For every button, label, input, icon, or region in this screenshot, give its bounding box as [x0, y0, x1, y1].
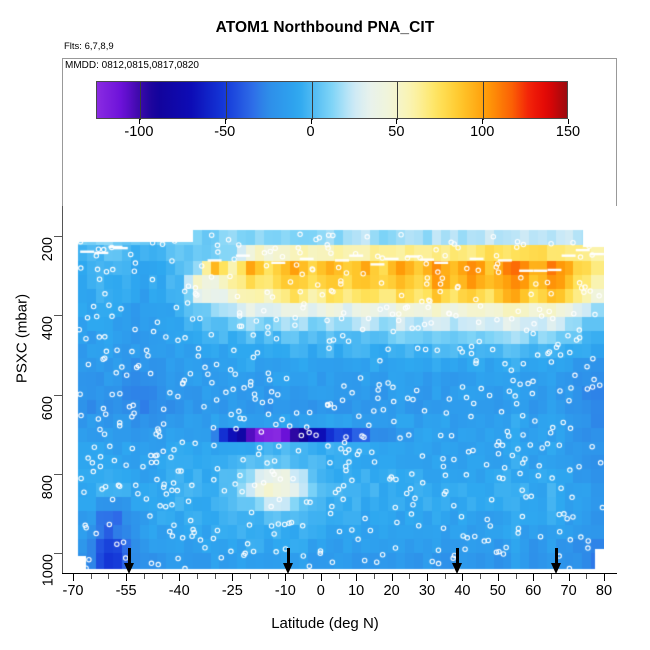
x-axis-tick-label: 70 — [561, 583, 577, 599]
x-axis-tick — [427, 574, 428, 581]
y-axis-tick-label-text: 600 — [40, 396, 56, 420]
x-axis-minor-tick — [144, 574, 145, 579]
y-axis-tick-label: 800 — [0, 467, 48, 481]
x-axis-minor-tick — [586, 574, 587, 579]
colorbar-divider — [483, 82, 484, 120]
y-axis-tick-label-text: 800 — [40, 475, 56, 499]
x-axis-minor-tick — [215, 574, 216, 579]
x-axis-minor-tick — [516, 574, 517, 579]
colorbar-gradient — [96, 81, 568, 119]
x-axis-tick — [462, 574, 463, 581]
x-axis-tick-label: 40 — [454, 583, 470, 599]
colorbar-tick-label: 50 — [388, 124, 404, 140]
x-axis-title: Latitude (deg N) — [0, 615, 650, 632]
heatmap-canvas — [73, 216, 604, 573]
page-title: ATOM1 Northbound PNA_CIT — [0, 19, 650, 37]
x-axis-tick-label: 30 — [419, 583, 435, 599]
x-axis-tick-label: 80 — [596, 583, 612, 599]
x-axis-minor-tick — [480, 574, 481, 579]
x-axis-tick-label: 0 — [317, 583, 325, 599]
colorbar-divider — [397, 82, 398, 120]
colorbar-divider — [140, 82, 141, 120]
x-axis-minor-tick — [250, 574, 251, 579]
x-axis-tick-label: -70 — [63, 583, 84, 599]
flights-annotation: Flts: 6,7,8,9 — [64, 41, 114, 52]
x-axis-tick-label: -55 — [116, 583, 137, 599]
y-axis-tick-label-text: 1000 — [40, 554, 56, 586]
x-axis-minor-tick — [303, 574, 304, 579]
x-axis-minor-tick — [162, 574, 163, 579]
latitude-marker-arrow — [452, 548, 463, 574]
y-axis-tick-label-text: 400 — [40, 316, 56, 340]
arrow-head — [551, 563, 561, 574]
x-axis-minor-tick — [551, 574, 552, 579]
y-axis-title: PSXC (mbar) — [14, 239, 31, 439]
colorbar-divider — [312, 82, 313, 120]
x-axis-tick — [569, 574, 570, 581]
x-axis-tick-label: 10 — [348, 583, 364, 599]
arrow-head — [283, 563, 293, 574]
colorbar-divider — [226, 82, 227, 120]
x-axis-minor-tick — [268, 574, 269, 579]
arrow-head — [452, 563, 462, 574]
x-axis-tick — [392, 574, 393, 581]
x-axis-minor-tick — [108, 574, 109, 579]
y-axis-tick-label: 1000 — [0, 546, 48, 560]
x-axis-tick — [321, 574, 322, 581]
y-axis-line — [62, 206, 63, 573]
colorbar-tick-label: 150 — [556, 124, 580, 140]
x-axis-tick-label: 60 — [525, 583, 541, 599]
x-axis-minor-tick — [409, 574, 410, 579]
colorbar-tick-label: 0 — [306, 124, 314, 140]
x-axis-tick-label: -40 — [169, 583, 190, 599]
colorbar-tick-label: -50 — [214, 124, 235, 140]
colorbar — [96, 81, 568, 119]
x-axis-tick-label: 20 — [384, 583, 400, 599]
x-axis-tick — [604, 574, 605, 581]
latitude-marker-arrow — [551, 548, 562, 574]
x-axis-tick — [285, 574, 286, 581]
colorbar-tick-label: -100 — [124, 124, 153, 140]
x-axis-tick — [356, 574, 357, 581]
mmdd-annotation: MMDD: 0812,0815,0817,0820 — [65, 60, 199, 71]
x-axis-tick — [73, 574, 74, 581]
x-axis-tick-label: -25 — [222, 583, 243, 599]
y-axis-tick-label-text: 200 — [40, 237, 56, 261]
x-axis-minor-tick — [339, 574, 340, 579]
x-axis-tick — [232, 574, 233, 581]
heatmap-plot-area — [73, 216, 604, 573]
x-axis-tick-label: -10 — [275, 583, 296, 599]
x-axis-tick-label: 50 — [490, 583, 506, 599]
x-axis-minor-tick — [445, 574, 446, 579]
latitude-marker-arrow — [283, 548, 294, 574]
colorbar-tick-labels: -100-50050100150 — [0, 124, 650, 144]
x-axis-minor-tick — [374, 574, 375, 579]
x-axis-minor-tick — [197, 574, 198, 579]
arrow-head — [124, 563, 134, 574]
colorbar-tick-label: 100 — [470, 124, 494, 140]
x-axis-tick — [498, 574, 499, 581]
x-axis-tick — [533, 574, 534, 581]
x-axis-minor-tick — [91, 574, 92, 579]
x-axis-tick — [126, 574, 127, 581]
x-axis-tick — [179, 574, 180, 581]
latitude-marker-arrow — [124, 548, 135, 574]
